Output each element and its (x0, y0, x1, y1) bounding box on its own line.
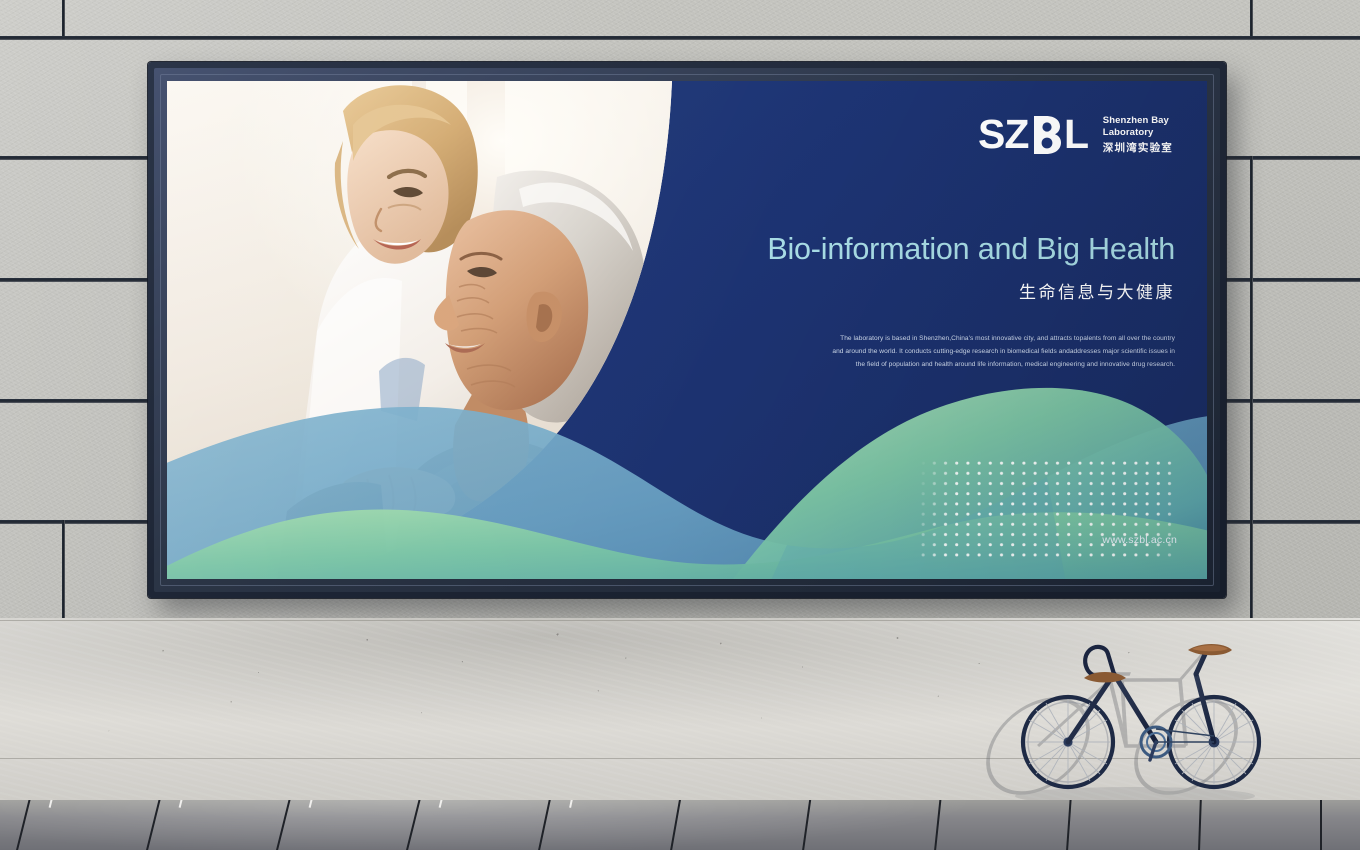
concrete-seam (0, 620, 1360, 621)
bicycle (1010, 630, 1280, 798)
logo-wordmark: SZ L (978, 113, 1094, 157)
pavement (0, 800, 1360, 850)
wall-seam-vertical (1250, 156, 1253, 278)
wall-seam-vertical (62, 0, 65, 36)
szbl-wordmark-icon: SZ L (978, 113, 1094, 157)
poster-headline: Bio-information and Big Health 生命信息与大健康 (655, 233, 1175, 303)
logo-name-block: Shenzhen Bay Laboratory 深圳湾实验室 (1103, 115, 1173, 157)
poster-canvas[interactable]: SZ L Shenzhen Bay Laboratory 深圳湾实验室 (167, 81, 1207, 579)
title-chinese: 生命信息与大健康 (655, 278, 1175, 303)
billboard-mockup-scene: SZ L Shenzhen Bay Laboratory 深圳湾实验室 (0, 0, 1360, 850)
title-english: Bio-information and Big Health (655, 233, 1175, 267)
logo-name-line1: Shenzhen Bay (1103, 115, 1173, 127)
wall-seam-vertical (1250, 399, 1253, 520)
logo-name-line2: Laboratory (1103, 127, 1173, 139)
poster-website-url[interactable]: www.szbl.ac.cn (1102, 534, 1177, 546)
szbl-logo[interactable]: SZ L Shenzhen Bay Laboratory 深圳湾实验室 (978, 113, 1173, 157)
pavement-joint (1320, 800, 1322, 850)
wall-seam-vertical (1250, 520, 1253, 618)
pavement-sheen (0, 800, 1360, 850)
billboard-frame[interactable]: SZ L Shenzhen Bay Laboratory 深圳湾实验室 (148, 62, 1226, 598)
wall-seam-vertical (1250, 0, 1253, 36)
poster-body-text: The laboratory is based in Shenzhen,Chin… (830, 333, 1175, 372)
wall-seam-horizontal (0, 36, 1360, 40)
wall-seam-vertical (62, 520, 65, 618)
wall-seam-vertical (1250, 278, 1253, 399)
svg-text:SZ: SZ (978, 113, 1028, 157)
svg-text:L: L (1064, 113, 1089, 157)
logo-name-chinese: 深圳湾实验室 (1103, 140, 1173, 155)
